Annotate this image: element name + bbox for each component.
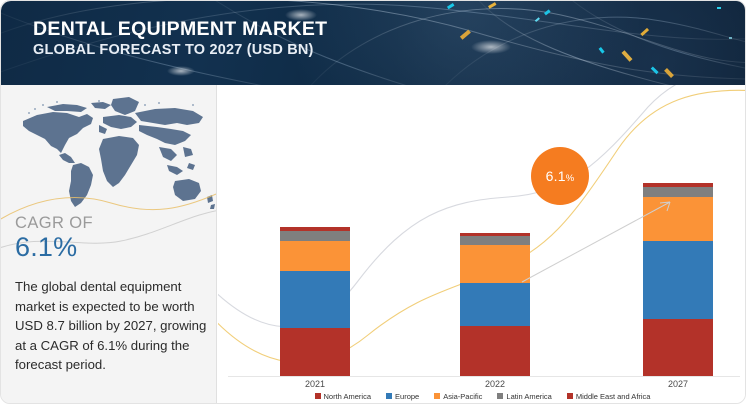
bar-2021[interactable]	[280, 227, 350, 376]
cagr-block: CAGR OF 6.1%	[15, 213, 93, 262]
cagr-label: CAGR OF	[15, 213, 93, 233]
x-axis-line	[228, 376, 740, 377]
market-description: The global dental equipment market is ex…	[15, 277, 207, 375]
cagr-callout-bubble[interactable]: 6.1%	[531, 147, 589, 205]
legend-label: Middle East and Africa	[576, 392, 651, 401]
header-banner: DENTAL EQUIPMENT MARKET GLOBAL FORECAST …	[1, 1, 746, 85]
legend-item-europe[interactable]: Europe	[386, 392, 419, 401]
legend-label: Asia-Pacific	[443, 392, 482, 401]
infographic-container: DENTAL EQUIPMENT MARKET GLOBAL FORECAST …	[0, 0, 746, 404]
legend-item-north-america[interactable]: North America	[315, 392, 372, 401]
segment-north-america	[280, 328, 350, 376]
legend-swatch-icon	[386, 393, 392, 399]
header-text-group: DENTAL EQUIPMENT MARKET GLOBAL FORECAST …	[33, 18, 327, 60]
legend-swatch-icon	[567, 393, 573, 399]
chart-legend: North America Europe Asia-Pacific Latin …	[218, 387, 746, 404]
legend-swatch-icon	[497, 393, 503, 399]
page-subtitle: GLOBAL FORECAST TO 2027 (USD BN)	[33, 41, 327, 60]
left-info-panel: CAGR OF 6.1% The global dental equipment…	[1, 85, 217, 404]
legend-item-latin-america[interactable]: Latin America	[497, 392, 551, 401]
legend-swatch-icon	[315, 393, 321, 399]
segment-north-america	[460, 326, 530, 376]
page-title: DENTAL EQUIPMENT MARKET	[33, 18, 327, 40]
segment-latin-america	[280, 231, 350, 241]
segment-north-america	[643, 319, 713, 376]
segment-asia-pacific	[280, 241, 350, 271]
callout-value: 6.1%	[546, 168, 575, 184]
chart-area: 2021 2022 2027 6.1%	[218, 85, 746, 404]
legend-label: North America	[324, 392, 372, 401]
legend-item-asia-pacific[interactable]: Asia-Pacific	[434, 392, 482, 401]
legend-swatch-icon	[434, 393, 440, 399]
legend-label: Europe	[395, 392, 419, 401]
legend-item-middle-east-and-africa[interactable]: Middle East and Africa	[567, 392, 651, 401]
cagr-value: 6.1%	[15, 232, 93, 262]
segment-europe	[280, 271, 350, 328]
legend-label: Latin America	[506, 392, 551, 401]
